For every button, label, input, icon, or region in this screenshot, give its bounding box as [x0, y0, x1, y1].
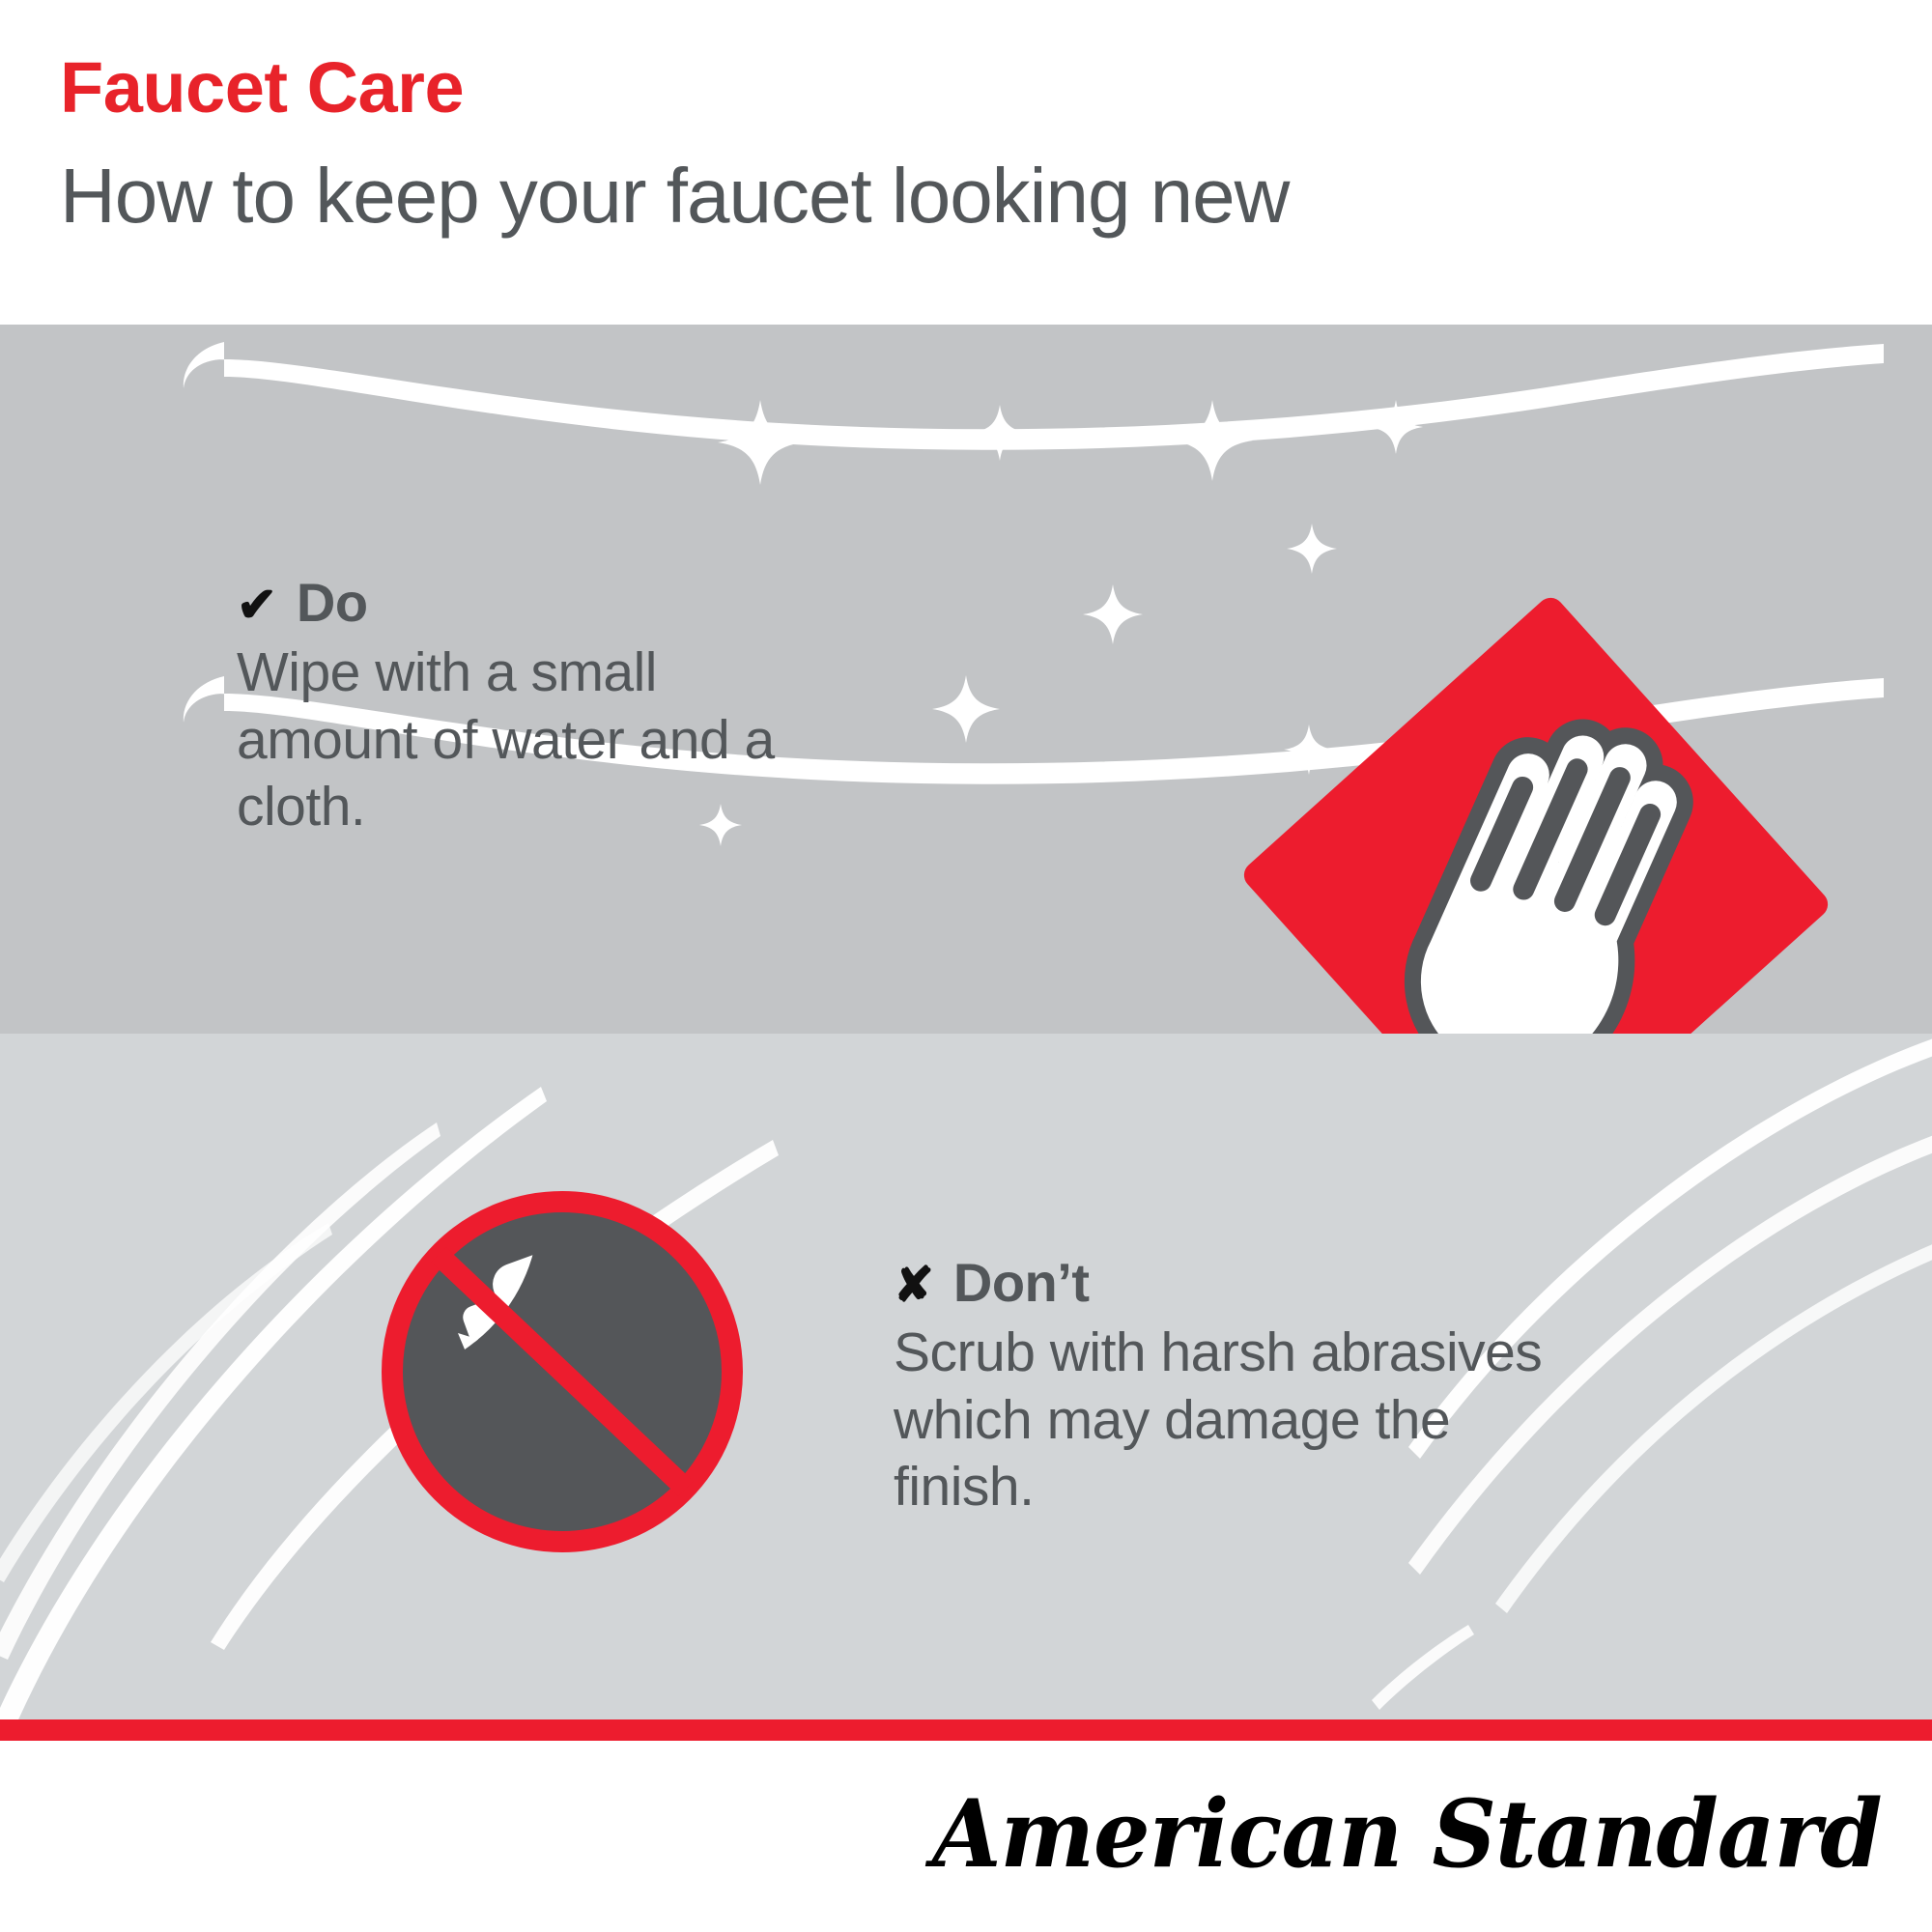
dont-heading-row: ✘ Don’t [894, 1256, 1550, 1310]
footer-red-divider [0, 1719, 1932, 1741]
no-abrasive-scrub-icon [369, 1202, 789, 1565]
sparkle-icon [1287, 524, 1337, 574]
swoosh-top-icon [184, 342, 1884, 450]
page-title: Faucet Care [60, 52, 464, 124]
dont-body-text: Scrub with harsh abrasives which may dam… [894, 1320, 1550, 1521]
cross-icon: ✘ [894, 1261, 934, 1309]
brand-logo: American Standard [932, 1779, 1882, 1889]
sparkle-icon [1172, 400, 1253, 481]
do-section: ✔ Do Wipe with a small amount of water a… [0, 325, 1932, 1034]
infographic-page: Faucet Care How to keep your faucet look… [0, 0, 1932, 1932]
dont-text-block: ✘ Don’t Scrub with harsh abrasives which… [894, 1256, 1550, 1521]
sparkle-icon [1083, 584, 1143, 644]
header: Faucet Care How to keep your faucet look… [0, 0, 1932, 325]
dont-label: Don’t [953, 1256, 1090, 1310]
do-text-block: ✔ Do Wipe with a small amount of water a… [237, 576, 836, 841]
page-subtitle: How to keep your faucet looking new [60, 157, 1289, 235]
dont-section: ✘ Don’t Scrub with harsh abrasives which… [0, 1034, 1932, 1719]
streak-line [1372, 1625, 1474, 1710]
sparkle-icon [718, 400, 803, 485]
footer: American Standard [0, 1741, 1932, 1932]
check-icon: ✔ [237, 581, 277, 629]
sparkle-icon [972, 405, 1028, 461]
do-heading-row: ✔ Do [237, 576, 836, 630]
do-body-text: Wipe with a small amount of water and a … [237, 639, 836, 841]
sparkle-icon [932, 675, 1000, 743]
do-label: Do [297, 576, 368, 630]
